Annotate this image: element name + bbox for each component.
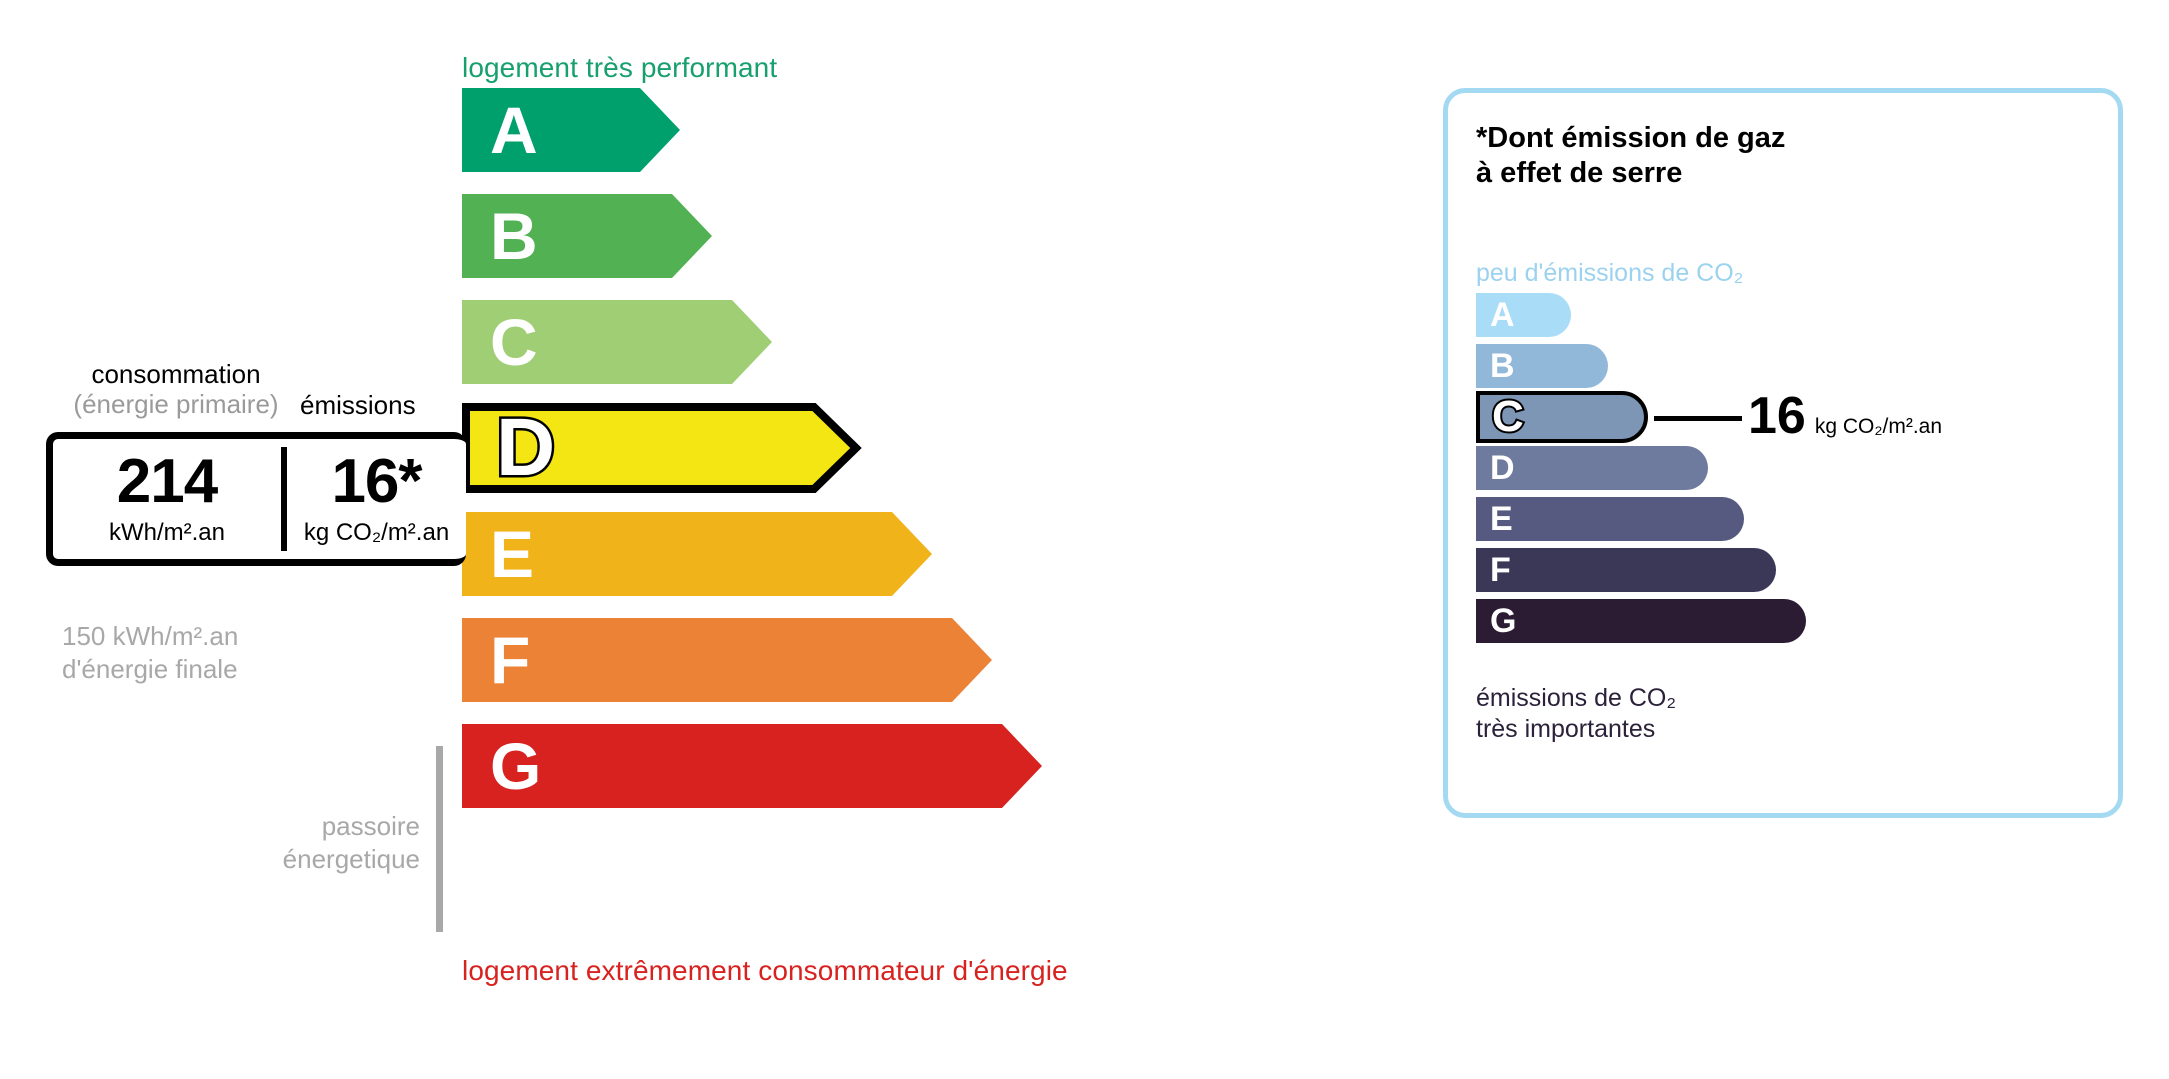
energy-row-a[interactable]: A [462,88,1362,172]
co2-title-line1: *Dont émission de gaz [1476,121,1785,156]
co2-bar-e [1476,497,1744,541]
co2-row-e[interactable]: E [1476,497,1976,541]
energy-row-g[interactable]: G [462,724,1362,808]
final-energy-line2: d'énergie finale [62,653,238,686]
consumption-value: 214 [117,451,217,513]
co2-title-line2: à effet de serre [1476,156,1785,191]
energy-row-f[interactable]: F [462,618,1362,702]
emission-value-cell: 16* kg CO₂/m².an [287,439,466,559]
passoire-bracket [436,746,443,932]
energy-grade-letter-a: A [490,97,538,163]
co2-panel: *Dont émission de gaz à effet de serre p… [1443,88,2123,818]
co2-bar-rows: A B C 16 kg CO₂/m².an D E [1476,293,1976,650]
emission-value: 16* [331,451,421,513]
energy-row-d-selected[interactable]: D [462,406,1362,490]
co2-grade-letter-f: F [1490,553,1511,587]
passoire-line1: passoire [190,810,420,843]
consumption-label-group: consommation (énergie primaire) [66,360,286,420]
co2-callout-value: 16 [1748,390,1806,442]
co2-row-f[interactable]: F [1476,548,1976,592]
energy-grade-letter-c: C [490,309,538,375]
co2-bar-f [1476,548,1776,592]
co2-grade-letter-a: A [1490,298,1515,332]
co2-row-a[interactable]: A [1476,293,1976,337]
final-energy-note: 150 kWh/m².an d'énergie finale [62,620,238,685]
energy-grade-letter-f: F [490,627,530,693]
passoire-line2: énergetique [190,843,420,876]
energy-grade-letter-e: E [490,521,534,587]
co2-row-g[interactable]: G [1476,599,1976,643]
energy-performance-chart: logement très performant A B [0,0,1400,1079]
co2-panel-title: *Dont émission de gaz à effet de serre [1476,121,1785,191]
co2-grade-letter-g: G [1490,604,1516,638]
co2-row-d[interactable]: D [1476,446,1976,490]
energy-arrow-g [462,724,1042,808]
energy-row-b[interactable]: B [462,194,1362,278]
energy-arrow-f [462,618,992,702]
energy-top-caption: logement très performant [462,52,777,84]
value-box: 214 kWh/m².an 16* kg CO₂/m².an [46,432,466,566]
energy-grade-letter-d: D [496,407,555,489]
emissions-label: émissions [300,390,416,421]
final-energy-line1: 150 kWh/m².an [62,620,238,653]
co2-grade-letter-c: C [1492,395,1524,439]
co2-bar-g [1476,599,1806,643]
co2-row-b[interactable]: B [1476,344,1976,388]
consumption-label: consommation [66,360,286,390]
co2-bottom-line2: très importantes [1476,714,1676,745]
dpe-diagram: logement très performant A B [0,0,2169,1079]
energy-row-c[interactable]: C [462,300,1362,384]
energy-grade-letter-g: G [490,733,541,799]
co2-leader-line [1654,416,1742,421]
co2-callout: 16 kg CO₂/m².an [1748,390,1942,442]
co2-bottom-line1: émissions de CO₂ [1476,683,1676,714]
emission-unit: kg CO₂/m².an [304,519,449,547]
co2-bottom-caption: émissions de CO₂ très importantes [1476,683,1676,744]
consumption-value-cell: 214 kWh/m².an [53,439,281,559]
passoire-label: passoire énergetique [190,810,420,875]
co2-row-c-selected[interactable]: C 16 kg CO₂/m².an [1476,395,1976,439]
consumption-unit: kWh/m².an [109,519,225,547]
co2-callout-unit: kg CO₂/m².an [1815,415,1942,439]
energy-row-e[interactable]: E [462,512,1362,596]
co2-grade-letter-e: E [1490,502,1513,536]
energy-grade-letter-b: B [490,203,538,269]
energy-bottom-caption: logement extrêmement consommateur d'éner… [462,955,1068,987]
co2-grade-letter-b: B [1490,349,1515,383]
co2-top-caption: peu d'émissions de CO₂ [1476,259,1743,288]
energy-bar-rows: A B C [462,88,1362,830]
consumption-sublabel: (énergie primaire) [66,390,286,420]
co2-grade-letter-d: D [1490,451,1515,485]
